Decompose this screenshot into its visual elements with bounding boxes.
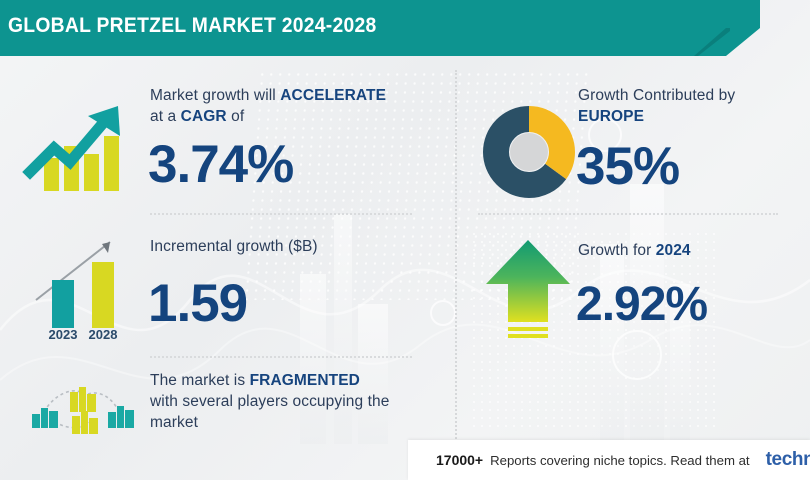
europe-caption: Growth Contributed by EUROPE (578, 85, 793, 127)
cagr-caption-accelerate: ACCELERATE (280, 87, 386, 104)
technavio-wordmark: technavio (766, 449, 810, 471)
incremental-value: 1.59 (148, 277, 247, 330)
growth-2024-caption-year: 2024 (656, 242, 691, 259)
fragmented-caption: The market is FRAGMENTED with several pl… (150, 370, 440, 433)
background-building (600, 244, 624, 444)
footer-bar: 17000+ Reports covering niche topics. Re… (408, 440, 810, 480)
page-title: GLOBAL PRETZEL MARKET 2024-2028 (8, 14, 377, 38)
row-divider (478, 213, 778, 215)
fragmented-caption-line2: with several players occupying the (150, 391, 440, 412)
growth-2024-caption: Growth for 2024 (578, 240, 793, 261)
footer-report-count: 17000+ (436, 452, 483, 468)
europe-caption-line1: Growth Contributed by (578, 85, 793, 106)
bar-comparison-icon: 2023 2028 (18, 228, 138, 345)
incremental-caption: Incremental growth ($B) (150, 236, 420, 257)
europe-caption-region: EUROPE (578, 108, 644, 125)
up-arrow-icon (482, 236, 574, 347)
europe-value: 35% (576, 140, 679, 193)
cagr-caption-pre: Market growth will (150, 87, 280, 104)
technavio-logo[interactable]: technavio (764, 449, 810, 471)
cagr-value: 3.74% (148, 138, 293, 191)
fragmented-caption-line3: market (150, 412, 440, 433)
fragmented-caption-bold: FRAGMENTED (250, 372, 360, 389)
background-ring (612, 330, 662, 380)
donut-chart-icon (480, 103, 578, 206)
background-ring (430, 300, 456, 326)
bar-label-2023: 2023 (49, 327, 78, 340)
row-divider (150, 213, 412, 215)
city-network-icon (20, 378, 138, 441)
footer-message: Reports covering niche topics. Read them… (490, 453, 750, 468)
cagr-caption-at-a: at a (150, 108, 181, 125)
column-divider (455, 70, 457, 442)
row-divider (150, 356, 412, 358)
infographic-root: GLOBAL PRETZEL MARKET 2024-2028 Market g… (0, 0, 810, 480)
growth-arrow-chart-icon (22, 96, 137, 206)
growth-2024-caption-pre: Growth for (578, 242, 656, 259)
fragmented-caption-pre: The market is (150, 372, 250, 389)
growth-2024-value: 2.92% (576, 281, 707, 329)
cagr-caption-cagr: CAGR (181, 108, 227, 125)
cagr-caption-of: of (227, 108, 245, 125)
bar-label-2028: 2028 (89, 327, 118, 340)
cagr-caption: Market growth will ACCELERATE at a CAGR … (150, 85, 420, 127)
